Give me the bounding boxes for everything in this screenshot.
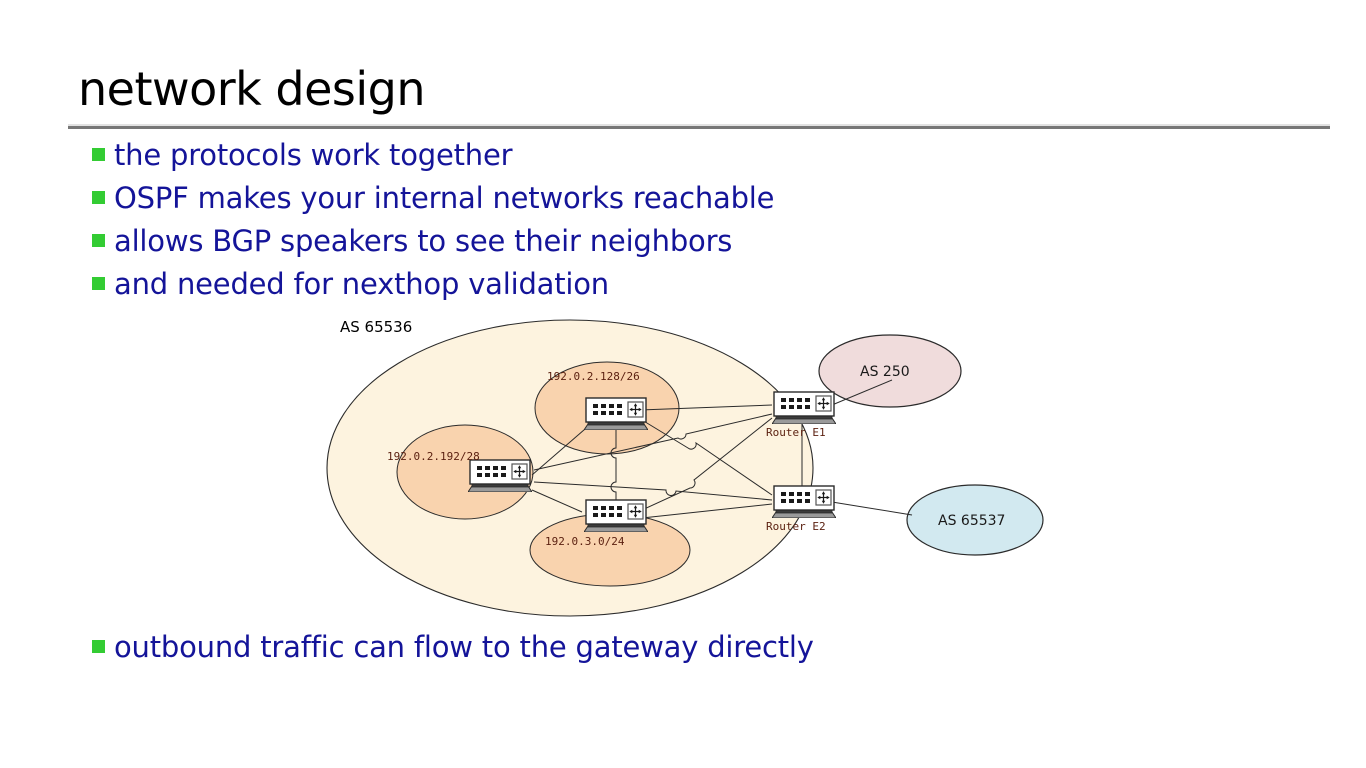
bullet-label: OSPF makes your internal networks reacha… (114, 181, 774, 215)
router-e1 (772, 392, 836, 424)
bullet-label: and needed for nexthop validation (114, 267, 609, 301)
router-top (584, 398, 648, 430)
network-topology-diagram: AS 65536 192.0.2.128/26 192.0.2.192/28 1… (320, 310, 1060, 625)
subnet-label-192-0-2-192: 192.0.2.192/28 (387, 450, 480, 463)
bullet-label: the protocols work together (114, 138, 512, 172)
list-item: the protocols work together (92, 138, 774, 181)
router-e1-label: Router E1 (766, 426, 826, 439)
link-e2-as65537 (832, 502, 912, 515)
as-250-label: AS 250 (860, 364, 910, 380)
list-item: OSPF makes your internal networks reacha… (92, 181, 774, 224)
bullet-label: outbound traffic can flow to the gateway… (114, 630, 814, 664)
bullet-label: allows BGP speakers to see their neighbo… (114, 224, 732, 258)
subnet-label-192-0-2-128: 192.0.2.128/26 (547, 370, 640, 383)
bullet-list-top: the protocols work together OSPF makes y… (92, 138, 774, 310)
router-e2-label: Router E2 (766, 520, 826, 533)
bullet-square-icon (92, 640, 105, 653)
bullet-square-icon (92, 277, 105, 290)
page-title: network design (78, 62, 425, 116)
as-65536-label: AS 65536 (340, 318, 412, 336)
list-item: outbound traffic can flow to the gateway… (92, 630, 814, 673)
router-bottom (584, 500, 648, 532)
bullet-square-icon (92, 234, 105, 247)
bullet-list-bottom: outbound traffic can flow to the gateway… (92, 630, 814, 673)
subnet-label-192-0-3-0: 192.0.3.0/24 (545, 535, 625, 548)
router-left (468, 460, 532, 492)
router-e2 (772, 486, 836, 518)
bullet-square-icon (92, 148, 105, 161)
as-65537-label: AS 65537 (938, 513, 1005, 529)
bullet-square-icon (92, 191, 105, 204)
list-item: and needed for nexthop validation (92, 267, 774, 310)
title-divider (68, 124, 1330, 126)
list-item: allows BGP speakers to see their neighbo… (92, 224, 774, 267)
